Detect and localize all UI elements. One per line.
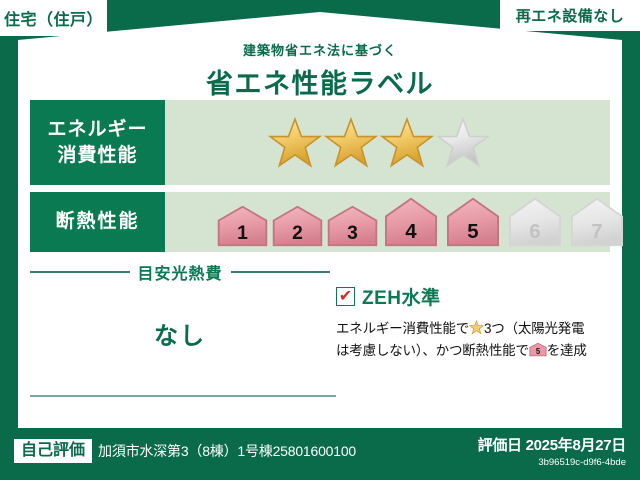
check-icon: ✔ [339, 289, 352, 305]
star-icon-inline [469, 320, 484, 335]
footer-right: 評価日 2025年8月27日 3b96519c-d9f6-4bde [478, 434, 626, 468]
insulation-grade-3: 3 [325, 204, 380, 248]
star-rating [268, 116, 490, 170]
evaluation-date: 評価日 2025年8月27日 [478, 434, 626, 455]
insulation-performance-row: 断熱性能 1 2 3 [30, 192, 610, 252]
cost-divider [30, 395, 336, 397]
insulation-grade-1-number: 1 [237, 223, 248, 244]
insulation-grade-7-number: 7 [591, 221, 602, 243]
insulation-grade-5: 5 [442, 196, 504, 248]
insulation-grade-1: 1 [215, 204, 270, 248]
utility-cost-title: 目安光熱費 [138, 260, 223, 284]
insulation-grade-3-number: 3 [347, 223, 358, 244]
energy-performance-label: エネルギー 消費性能 [30, 100, 165, 185]
label-panel: エネルギー 消費性能 [18, 88, 622, 428]
insulation-grade-2: 2 [270, 204, 325, 248]
star-icon-filled-2 [324, 116, 378, 170]
rule-left [30, 271, 130, 273]
zeh-header: ✔ ZEH水準 [336, 283, 614, 310]
insulation-grade-icon-inline: 5 [529, 342, 547, 357]
page-title: 省エネ性能ラベル [0, 62, 640, 101]
insulation-grade-7: 7 [566, 196, 628, 248]
energy-performance-label-line1: エネルギー [47, 117, 147, 143]
zeh-desc-part2: は考慮しない）、かつ断熱性能で [336, 343, 529, 358]
rule-right [231, 271, 331, 273]
star-icon-filled-3 [380, 116, 434, 170]
star-icon-empty-4 [436, 116, 490, 170]
insulation-performance-label: 断熱性能 [30, 192, 165, 252]
zeh-title: ZEH水準 [362, 283, 441, 310]
zeh-block: ✔ ZEH水準 エネルギー消費性能で3つ（太陽光発電は考慮しない）、かつ断熱性能… [336, 283, 614, 361]
building-address: 加須市水深第3（8棟）1号棟25801600100 [98, 441, 356, 461]
self-evaluation-badge: 自己評価 [14, 439, 92, 463]
insulation-grade-2-number: 2 [292, 223, 303, 244]
evaluation-id: 3b96519c-d9f6-4bde [478, 457, 626, 468]
insulation-grade-4-number: 4 [405, 221, 417, 243]
insulation-performance-label-line1: 断熱性能 [55, 209, 139, 235]
utility-cost-value: なし [30, 316, 330, 351]
svg-text:5: 5 [536, 347, 541, 356]
energy-performance-row: エネルギー 消費性能 [30, 100, 610, 185]
utility-cost-block: 目安光熱費 なし [30, 260, 330, 351]
energy-performance-label-line2: 消費性能 [57, 143, 137, 169]
insulation-grade-scale: 1 2 3 4 5 6 [215, 196, 628, 248]
star-icon-filled-1 [268, 116, 322, 170]
footer-left: 自己評価 加須市水深第3（8棟）1号棟25801600100 [14, 439, 356, 463]
insulation-grade-6-number: 6 [529, 221, 540, 243]
footer: 自己評価 加須市水深第3（8棟）1号棟25801600100 評価日 2025年… [0, 428, 640, 480]
zeh-description: エネルギー消費性能で3つ（太陽光発電は考慮しない）、かつ断熱性能で5を達成 [336, 318, 614, 361]
zeh-desc-star-count: 3つ（太陽光発電 [484, 321, 584, 336]
utility-cost-header: 目安光熱費 [30, 260, 330, 284]
insulation-grade-4: 4 [380, 196, 442, 248]
zeh-desc-part1: エネルギー消費性能で [336, 321, 469, 336]
header-subtitle: 建築物省エネ法に基づく [0, 40, 640, 59]
insulation-grade-6: 6 [504, 196, 566, 248]
zeh-desc-part3: を達成 [547, 343, 587, 358]
header: 建築物省エネ法に基づく 省エネ性能ラベル [0, 10, 640, 101]
zeh-checkbox: ✔ [336, 287, 355, 306]
insulation-grade-5-number: 5 [467, 221, 478, 243]
